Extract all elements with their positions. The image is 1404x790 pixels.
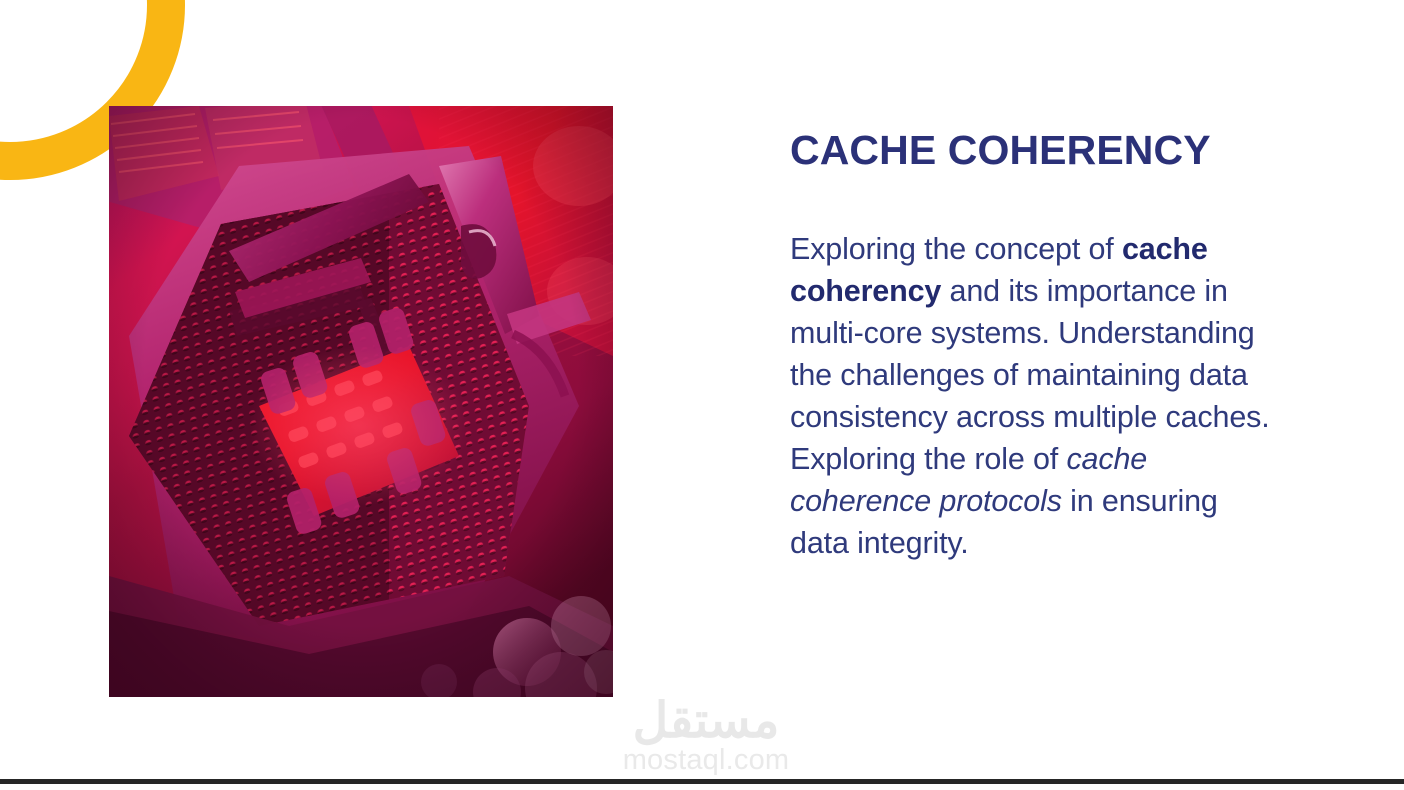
bottom-divider [0, 779, 1404, 784]
body-paragraph: Exploring the concept of cache coherency… [790, 174, 1270, 564]
content-column: CACHE COHERENCY Exploring the concept of… [790, 128, 1290, 564]
slide-canvas: CACHE COHERENCY Exploring the concept of… [0, 0, 1404, 790]
photo-vignette [109, 106, 613, 697]
watermark-domain-label: mostaql.com [604, 744, 808, 776]
cpu-socket-illustration [109, 106, 613, 697]
cpu-socket-photo [109, 106, 613, 697]
watermark-arabic-logo: مستقل [604, 694, 808, 748]
page-title: CACHE COHERENCY [790, 128, 1290, 174]
body-text-part-1: Exploring the concept of [790, 232, 1122, 266]
watermark: مستقل mostaql.com [604, 694, 808, 776]
